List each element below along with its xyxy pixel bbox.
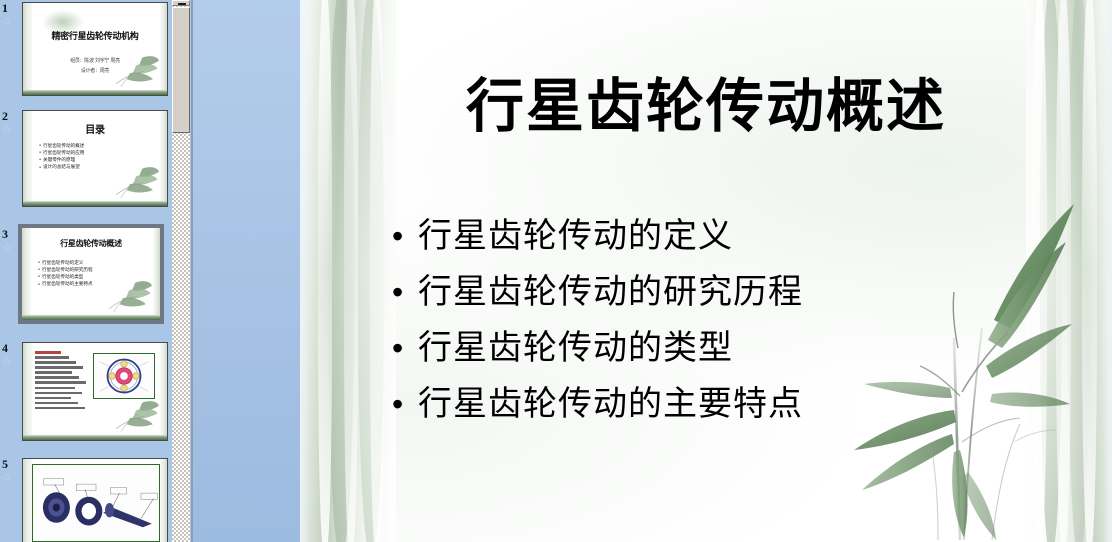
mini-bamboo-leaf-icon xyxy=(113,53,159,87)
slide-bullet-text: 行星齿轮传动的主要特点 xyxy=(418,382,803,426)
mini-band-left xyxy=(23,459,32,542)
scrollbar-thumb[interactable] xyxy=(172,7,190,133)
slide-bullet-item: •行星齿轮传动的主要特点 xyxy=(392,382,992,426)
slide-number-label: 2 xyxy=(2,110,8,123)
mini-bamboo-leaf-icon xyxy=(106,278,152,312)
star-transition-icon[interactable]: ☆ xyxy=(2,356,14,368)
slide-number-label: 1 xyxy=(2,2,8,15)
planetary-gear-ring-diagram xyxy=(94,354,154,398)
mini-bullet-item: 行星齿轮传动的研究历程 xyxy=(38,267,93,274)
slide-bullet-text: 行星齿轮传动的类型 xyxy=(418,326,733,370)
presentation-window: 1☆精密行星齿轮传动机构组员：陈波 刘宇宁 周亮设计者：周亮2☆目录行星齿轮传动… xyxy=(0,0,1112,542)
slide-bullet-item: •行星齿轮传动的定义 xyxy=(392,214,992,258)
bullet-marker-icon: • xyxy=(392,270,418,314)
mini-bullet-item: 行星齿轮传动的类型 xyxy=(38,274,93,281)
pane-divider[interactable] xyxy=(191,0,193,542)
slide-edge-fade-right xyxy=(1104,0,1112,542)
slide-bullet-list: •行星齿轮传动的定义•行星齿轮传动的研究历程•行星齿轮传动的类型•行星齿轮传动的… xyxy=(392,214,992,438)
mini-band-right xyxy=(160,343,167,440)
slide-thumbnail-preview: 精密行星齿轮传动机构组员：陈波 刘宇宁 周亮设计者：周亮 xyxy=(23,3,167,95)
mini-bamboo-watermark xyxy=(33,5,93,39)
slide-thumbnail-preview: 目录行星齿轮传动的概述行星齿轮传动的应用关键零件的原理设计的总结与展望 xyxy=(23,111,167,206)
slide-thumbnail[interactable]: 目录行星齿轮传动的概述行星齿轮传动的应用关键零件的原理设计的总结与展望 xyxy=(22,110,168,207)
mini-bamboo-leaf-icon xyxy=(113,398,159,432)
mini-bamboo-leaf-icon xyxy=(113,164,159,198)
slide-number-label: 3 xyxy=(2,228,8,241)
gear-assembly-3d-diagram xyxy=(33,465,159,541)
slide-bullet-text: 行星齿轮传动的研究历程 xyxy=(418,270,803,314)
slide-number-label: 5 xyxy=(2,458,8,471)
mini-figure-frame xyxy=(32,464,160,542)
slide-bullet-text: 行星齿轮传动的定义 xyxy=(418,214,733,258)
mini-band-right xyxy=(160,3,167,95)
mini-bullet-item: 行星齿轮传动的概述 xyxy=(39,143,84,150)
slide-edge-fade-left xyxy=(300,0,310,542)
mini-band-left xyxy=(23,3,32,95)
mini-bullet-item: 行星齿轮传动的应用 xyxy=(39,150,84,157)
slide-bullet-item: •行星齿轮传动的类型 xyxy=(392,326,992,370)
star-transition-icon[interactable]: ☆ xyxy=(2,16,14,28)
mini-body-text-block xyxy=(35,351,87,413)
mini-bullet-item: 行星齿轮传动的定义 xyxy=(38,260,93,267)
mini-slide-title: 目录 xyxy=(23,121,167,136)
mini-bullet-list: 行星齿轮传动的概述行星齿轮传动的应用关键零件的原理设计的总结与展望 xyxy=(39,143,84,171)
mini-bullet-item: 设计的总结与展望 xyxy=(39,164,84,171)
mini-band-left xyxy=(23,343,32,440)
slide-thumbnail-pane[interactable]: 1☆精密行星齿轮传动机构组员：陈波 刘宇宁 周亮设计者：周亮2☆目录行星齿轮传动… xyxy=(0,0,192,542)
star-transition-icon[interactable]: ☆ xyxy=(2,242,14,254)
slide-title: 行星齿轮传动概述 xyxy=(360,74,1052,138)
star-transition-icon[interactable]: ☆ xyxy=(2,472,14,484)
slide-thumbnail[interactable]: 行星齿轮传动概述行星齿轮传动的定义行星齿轮传动的研究历程行星齿轮传动的类型行星齿… xyxy=(18,224,164,324)
mini-slide-title: 行星齿轮传动概述 xyxy=(22,238,160,249)
mini-figure-frame xyxy=(93,353,155,399)
pane-gap xyxy=(193,0,300,542)
bullet-marker-icon: • xyxy=(392,214,418,258)
slide-thumbnail-preview xyxy=(23,343,167,440)
mini-bullet-list: 行星齿轮传动的定义行星齿轮传动的研究历程行星齿轮传动的类型行星齿轮传动的主要特点 xyxy=(38,260,93,288)
mini-band-bottom xyxy=(23,90,167,95)
mini-band-right xyxy=(160,459,167,542)
main-slide-canvas[interactable]: 行星齿轮传动概述 •行星齿轮传动的定义•行星齿轮传动的研究历程•行星齿轮传动的类… xyxy=(300,0,1112,542)
slide-thumbnail[interactable] xyxy=(22,342,168,441)
bullet-marker-icon: • xyxy=(392,326,418,370)
slide-thumbnail-preview: 行星齿轮传动概述行星齿轮传动的定义行星齿轮传动的研究历程行星齿轮传动的类型行星齿… xyxy=(22,228,160,320)
bullet-marker-icon: • xyxy=(392,382,418,426)
mini-band-bottom xyxy=(22,315,160,320)
slide-bullet-item: •行星齿轮传动的研究历程 xyxy=(392,270,992,314)
mini-band-bottom xyxy=(23,201,167,206)
vertical-scrollbar[interactable] xyxy=(172,0,190,542)
slide-thumbnail[interactable]: 精密行星齿轮传动机构组员：陈波 刘宇宁 周亮设计者：周亮 xyxy=(22,2,168,96)
mini-band-bottom xyxy=(23,435,167,440)
scrollbar-up-arrow-button[interactable] xyxy=(172,0,190,6)
mini-bullet-item: 行星齿轮传动的主要特点 xyxy=(38,281,93,288)
slide-thumbnail-preview xyxy=(23,459,167,542)
slide-number-label: 4 xyxy=(2,342,8,355)
mini-bullet-item: 关键零件的原理 xyxy=(39,157,84,164)
slide-thumbnail[interactable] xyxy=(22,458,168,542)
star-transition-icon[interactable]: ☆ xyxy=(2,124,14,136)
